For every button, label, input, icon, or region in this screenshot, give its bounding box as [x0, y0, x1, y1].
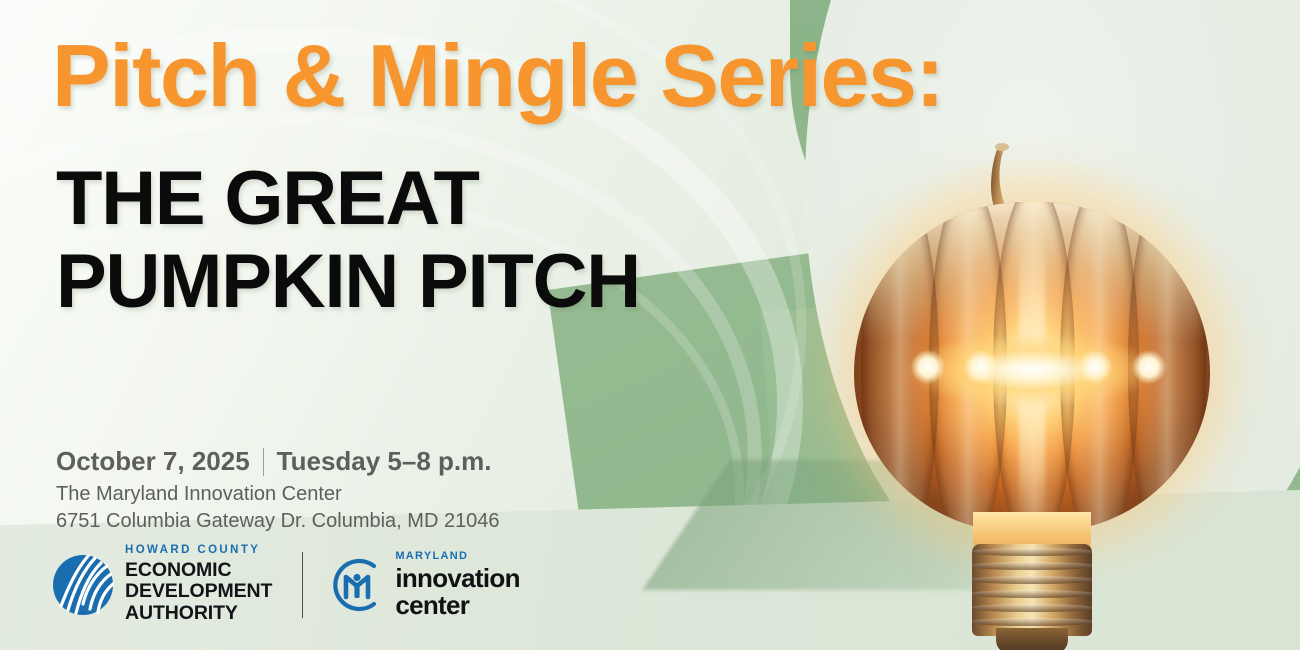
venue-name: The Maryland Innovation Center: [56, 481, 500, 508]
mic-name-line-1: innovation: [395, 565, 519, 592]
mic-name: innovation center: [395, 565, 519, 619]
event-main-title: THE GREAT PUMPKIN PITCH: [56, 158, 640, 324]
mic-name-line-2: center: [395, 592, 519, 619]
event-time: Tuesday 5–8 p.m.: [277, 446, 492, 477]
mic-logo: MARYLAND innovation center: [329, 551, 519, 619]
main-title-line-1: THE GREAT: [56, 158, 640, 241]
hceda-wordmark: HOWARD COUNTY ECONOMIC DEVELOPMENT AUTHO…: [125, 545, 272, 625]
mic-eyebrow: MARYLAND: [395, 551, 519, 562]
venue-address: 6751 Columbia Gateway Dr. Columbia, MD 2…: [56, 508, 500, 535]
event-date: October 7, 2025: [56, 446, 250, 477]
main-title-line-2: PUMPKIN PITCH: [56, 241, 640, 324]
sponsor-logo-row: HOWARD COUNTY ECONOMIC DEVELOPMENT AUTHO…: [52, 548, 520, 622]
event-series-title: Pitch & Mingle Series:: [52, 32, 943, 120]
event-datetime: October 7, 2025 Tuesday 5–8 p.m.: [56, 446, 492, 477]
logo-separator: [302, 552, 303, 618]
hceda-globe-icon: [52, 554, 114, 616]
hceda-name-line-3: AUTHORITY: [125, 603, 272, 625]
event-promo-banner: Pitch & Mingle Series: THE GREAT PUMPKIN…: [0, 0, 1300, 650]
hceda-logo: HOWARD COUNTY ECONOMIC DEVELOPMENT AUTHO…: [52, 545, 272, 625]
hceda-eyebrow: HOWARD COUNTY: [125, 545, 272, 557]
hceda-name-line-2: DEVELOPMENT: [125, 581, 272, 603]
mic-wordmark: MARYLAND innovation center: [395, 551, 519, 619]
hceda-name-line-1: ECONOMIC: [125, 560, 272, 582]
mic-circle-m-icon: [329, 557, 385, 613]
event-venue: The Maryland Innovation Center 6751 Colu…: [56, 481, 500, 534]
datetime-divider: [263, 448, 264, 476]
hceda-name: ECONOMIC DEVELOPMENT AUTHORITY: [125, 560, 272, 625]
